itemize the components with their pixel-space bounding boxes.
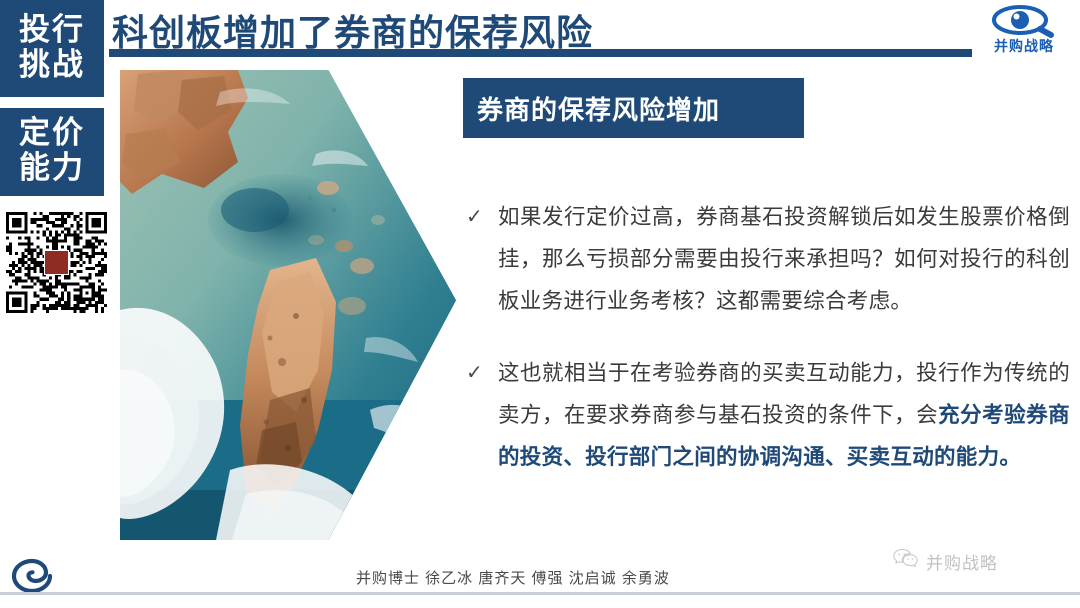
- bullet-list: ✓ 如果发行定价过高，券商基石投资解锁后如发生股票价格倒挂，那么亏损部分需要由投…: [466, 196, 1070, 508]
- sidebar-item-challenge[interactable]: 投行 挑战: [0, 0, 104, 97]
- wechat-icon: [893, 548, 919, 575]
- eye-magnifier-icon: [976, 4, 1072, 38]
- list-item-text: 这也就相当于在考验券商的买卖互动能力，投行作为传统的卖方，在要求券商参与基石投资…: [498, 352, 1070, 478]
- wechat-watermark-name: 并购战略: [926, 549, 998, 574]
- qr-code-center-seal: [44, 250, 69, 275]
- aerial-coastline-photo: [120, 70, 456, 540]
- brand-logo: 并购战略: [976, 4, 1072, 58]
- check-icon: ✓: [466, 196, 498, 238]
- sidebar-item-pricing-line2: 能力: [19, 151, 85, 186]
- callout-heading: 券商的保荐风险增加: [463, 78, 804, 138]
- list-item-text: 如果发行定价过高，券商基石投资解锁后如发生股票价格倒挂，那么亏损部分需要由投行来…: [498, 196, 1070, 322]
- list-item: ✓ 如果发行定价过高，券商基石投资解锁后如发生股票价格倒挂，那么亏损部分需要由投…: [466, 196, 1070, 322]
- qr-code[interactable]: [6, 212, 107, 313]
- sidebar-item-pricing[interactable]: 定价 能力: [0, 108, 104, 196]
- list-item: ✓ 这也就相当于在考验券商的买卖互动能力，投行作为传统的卖方，在要求券商参与基石…: [466, 352, 1070, 478]
- list-item-text-plain: 如果发行定价过高，券商基石投资解锁后如发生股票价格倒挂，那么亏损部分需要由投行来…: [498, 205, 1070, 313]
- sidebar-item-pricing-line1: 定价: [19, 116, 85, 151]
- title-underline-bar: [109, 49, 972, 57]
- wechat-watermark: 并购战略: [893, 548, 998, 575]
- check-icon: ✓: [466, 352, 498, 394]
- footer-credits: 并购博士 徐乙冰 唐齐天 傅强 沈启诚 余勇波: [356, 567, 670, 588]
- sidebar-item-challenge-line1: 投行: [19, 13, 85, 48]
- sidebar-item-challenge-line2: 挑战: [19, 48, 85, 83]
- spiral-logo: [10, 556, 54, 596]
- brand-name: 并购战略: [976, 36, 1072, 56]
- footer-divider: [0, 592, 1080, 595]
